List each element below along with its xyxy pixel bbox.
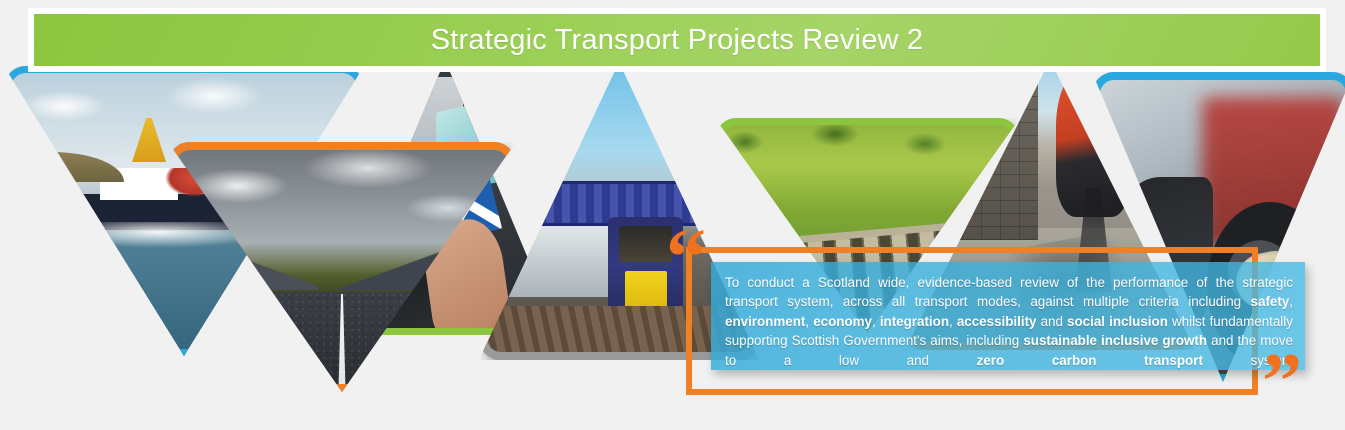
quote-keyword: zero carbon transport: [977, 353, 1203, 368]
quote-keyword: social inclusion: [1067, 314, 1168, 329]
quote-keyword: sustainable inclusive growth: [1023, 333, 1207, 348]
quote-run: ,: [949, 314, 957, 329]
mission-statement-text: To conduct a Scotland wide, evidence-bas…: [725, 273, 1293, 370]
road-border: [168, 142, 516, 392]
quote-run: ,: [872, 314, 880, 329]
banner-stage: “ To conduct a Scotland wide, evidence-b…: [0, 0, 1345, 430]
quote-run: and: [1036, 314, 1067, 329]
banner-title-bar: Strategic Transport Projects Review 2: [34, 14, 1320, 66]
collage-tile-road: [168, 142, 516, 392]
page-title: Strategic Transport Projects Review 2: [34, 14, 1320, 66]
quote-open-icon: “: [666, 218, 706, 298]
quote-run: ,: [1289, 294, 1293, 309]
quote-run: ,: [805, 314, 813, 329]
quote-keyword: safety: [1251, 294, 1290, 309]
quote-keyword: accessibility: [957, 314, 1037, 329]
mission-statement-panel: To conduct a Scotland wide, evidence-bas…: [711, 262, 1305, 370]
quote-keyword: economy: [813, 314, 872, 329]
quote-keyword: integration: [880, 314, 949, 329]
quote-run: To conduct a Scotland wide, evidence-bas…: [725, 275, 1293, 309]
quote-close-icon: ”: [1262, 342, 1302, 422]
quote-keyword: environment: [725, 314, 805, 329]
